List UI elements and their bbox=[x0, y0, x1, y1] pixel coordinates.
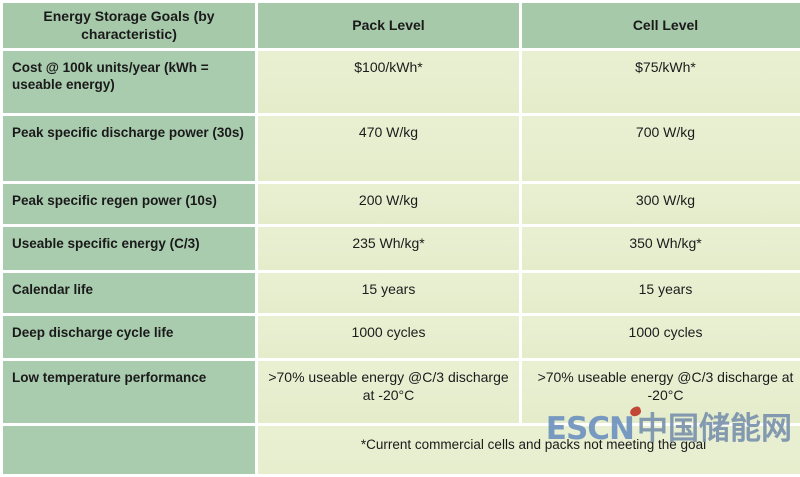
column-header-pack-level: Pack Level bbox=[258, 3, 519, 48]
cell-calendar-life-cell: 15 years bbox=[522, 273, 800, 313]
table-row: Peak specific discharge power (30s) 470 … bbox=[3, 116, 800, 181]
cell-peak-discharge-power-cell: 700 W/kg bbox=[522, 116, 800, 181]
row-label-useable-specific-energy: Useable specific energy (C/3) bbox=[3, 227, 255, 270]
table-row: Calendar life 15 years 15 years bbox=[3, 273, 800, 313]
table-row: Useable specific energy (C/3) 235 Wh/kg*… bbox=[3, 227, 800, 270]
cell-peak-regen-power-pack: 200 W/kg bbox=[258, 184, 519, 224]
table-row: Peak specific regen power (10s) 200 W/kg… bbox=[3, 184, 800, 224]
cell-peak-regen-power-cell: 300 W/kg bbox=[522, 184, 800, 224]
row-label-peak-regen-power: Peak specific regen power (10s) bbox=[3, 184, 255, 224]
cell-calendar-life-pack: 15 years bbox=[258, 273, 519, 313]
row-label-peak-discharge-power: Peak specific discharge power (30s) bbox=[3, 116, 255, 181]
table-footnote: *Current commercial cells and packs not … bbox=[258, 426, 800, 474]
energy-storage-goals-table: Energy Storage Goals (by characteristic)… bbox=[0, 0, 800, 477]
row-label-calendar-life: Calendar life bbox=[3, 273, 255, 313]
energy-storage-goals-table-container: Energy Storage Goals (by characteristic)… bbox=[0, 0, 800, 451]
row-label-deep-discharge-cycle-life: Deep discharge cycle life bbox=[3, 316, 255, 358]
cell-low-temperature-performance-pack: >70% useable energy @C/3 discharge at -2… bbox=[258, 361, 519, 423]
row-label-low-temperature-performance: Low temperature performance bbox=[3, 361, 255, 423]
table-footnote-row: *Current commercial cells and packs not … bbox=[3, 426, 800, 474]
cell-cost-cell: $75/kWh* bbox=[522, 51, 800, 113]
cell-low-temperature-performance-cell: >70% useable energy @C/3 discharge at -2… bbox=[522, 361, 800, 423]
cell-deep-discharge-cycle-life-cell: 1000 cycles bbox=[522, 316, 800, 358]
table-header-row: Energy Storage Goals (by characteristic)… bbox=[3, 3, 800, 48]
cell-useable-specific-energy-cell: 350 Wh/kg* bbox=[522, 227, 800, 270]
cell-cost-pack: $100/kWh* bbox=[258, 51, 519, 113]
table-row: Low temperature performance >70% useable… bbox=[3, 361, 800, 423]
column-header-cell-level: Cell Level bbox=[522, 3, 800, 48]
table-row: Cost @ 100k units/year (kWh = useable en… bbox=[3, 51, 800, 113]
row-label-empty bbox=[3, 426, 255, 474]
cell-deep-discharge-cycle-life-pack: 1000 cycles bbox=[258, 316, 519, 358]
cell-peak-discharge-power-pack: 470 W/kg bbox=[258, 116, 519, 181]
cell-useable-specific-energy-pack: 235 Wh/kg* bbox=[258, 227, 519, 270]
row-label-cost: Cost @ 100k units/year (kWh = useable en… bbox=[3, 51, 255, 113]
table-row: Deep discharge cycle life 1000 cycles 10… bbox=[3, 316, 800, 358]
column-header-characteristic: Energy Storage Goals (by characteristic) bbox=[3, 3, 255, 48]
